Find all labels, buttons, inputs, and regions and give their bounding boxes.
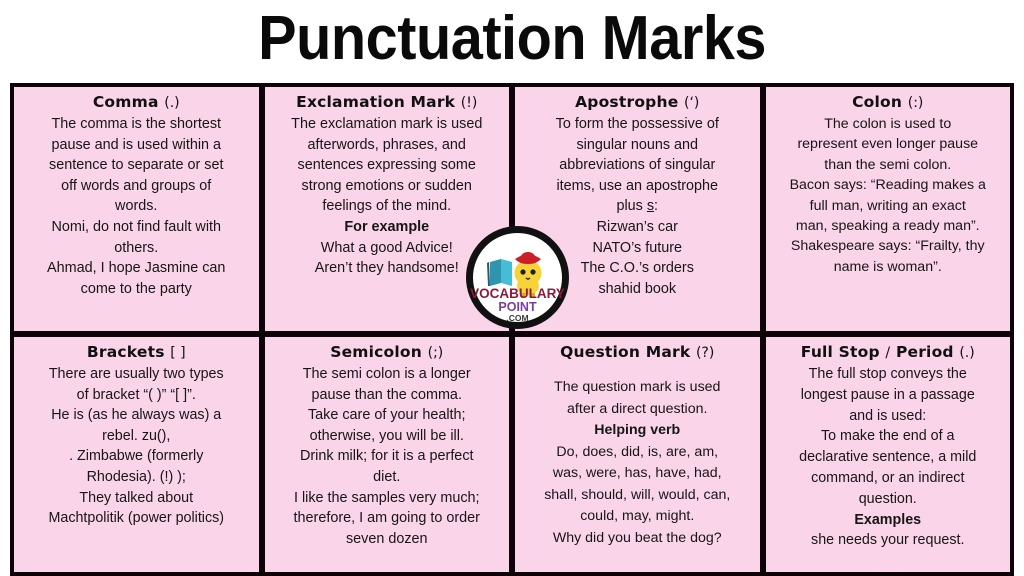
body-line: Rhodesia). (!) ); [21, 467, 252, 488]
cell-mark: (?) [696, 345, 714, 361]
cell-mark: (‘) [684, 95, 699, 111]
body-line: He is (as he always was) a [21, 405, 252, 426]
body-line: declarative sentence, a mild [773, 447, 1004, 468]
body-line: shahid book [522, 279, 753, 300]
body-line: seven dozen [272, 529, 503, 550]
body-line: pause than the comma. [272, 385, 503, 406]
cell-body-exclamation-mark: The exclamation mark is used afterwords,… [272, 114, 503, 279]
cell-body-comma: The comma is the shortest pause and is u… [21, 114, 252, 299]
cell-title: Question Mark [560, 343, 690, 361]
cell-title: Colon [852, 93, 902, 111]
cell-heading-question-mark: Question Mark (?) [522, 343, 753, 363]
title-bar: Punctuation Marks [0, 0, 1024, 78]
underlined-s: s [647, 198, 654, 214]
cell-title-separator: / [885, 345, 890, 361]
body-line: full man, writing an exact [773, 196, 1004, 216]
body-line: There are usually two types [21, 364, 252, 385]
body-line: I like the samples very much; [272, 488, 503, 509]
body-line: sentences expressing some [272, 155, 503, 176]
body-line: man, speaking a ready man”. [773, 216, 1004, 236]
body-line: after a direct question. [522, 399, 753, 421]
punctuation-marks-poster: Punctuation Marks Comma (.) The comma is… [0, 0, 1024, 576]
body-line: off words and groups of [21, 176, 252, 197]
body-line: The question mark is used [522, 377, 753, 399]
body-line: What a good Advice! [272, 238, 503, 259]
body-line-emphasis: Examples [773, 510, 1004, 531]
body-line: of bracket “( )” “[ ]”. [21, 385, 252, 406]
cell-semicolon: Semicolon (;) The semi colon is a longer… [265, 337, 510, 572]
body-line: come to the party [21, 279, 252, 300]
cell-exclamation-mark: Exclamation Mark (!) The exclamation mar… [265, 87, 510, 331]
cell-mark: (.) [164, 95, 179, 111]
body-line: Bacon says: “Reading makes a [773, 175, 1004, 195]
body-line: Do, does, did, is, are, am, [522, 442, 753, 464]
body-line: sentence to separate or set [21, 155, 252, 176]
cell-heading-brackets: Brackets [ ] [21, 343, 252, 363]
body-line-emphasis: For example [272, 217, 503, 238]
body-line: diet. [272, 467, 503, 488]
cell-title-period: Period [896, 343, 954, 361]
body-line: question. [773, 489, 1004, 510]
body-line: Aren’t they handsome! [272, 258, 503, 279]
body-line: words. [21, 196, 252, 217]
cell-title-full-stop: Full Stop [801, 343, 880, 361]
cell-title: Comma [93, 93, 159, 111]
body-line: They talked about [21, 488, 252, 509]
body-line: To form the possessive of [522, 114, 753, 135]
body-line: longest pause in a passage [773, 385, 1004, 406]
cell-title: Brackets [87, 343, 165, 361]
body-line: items, use an apostrophe [522, 176, 753, 197]
body-line: feelings of the mind. [272, 196, 503, 217]
body-line: The comma is the shortest [21, 114, 252, 135]
cell-apostrophe: Apostrophe (‘) To form the possessive of… [515, 87, 760, 331]
cell-full-stop-period: Full Stop / Period (.) The full stop con… [766, 337, 1011, 572]
body-line: . Zimbabwe (formerly [21, 446, 252, 467]
cell-body-brackets: There are usually two types of bracket “… [21, 364, 252, 529]
cell-heading-colon: Colon (:) [773, 93, 1004, 113]
body-line: otherwise, you will be ill. [272, 426, 503, 447]
cell-body-apostrophe: To form the possessive of singular nouns… [522, 114, 753, 299]
body-line: Rizwan’s car [522, 217, 753, 238]
body-line: Nomi, do not find fault with [21, 217, 252, 238]
cell-body-question-mark: The question mark is used after a direct… [522, 364, 753, 549]
body-line: Take care of your health; [272, 405, 503, 426]
page-title: Punctuation Marks [258, 6, 766, 72]
body-line: Ahmad, I hope Jasmine can [21, 258, 252, 279]
body-line: Shakespeare says: “Frailty, thy [773, 236, 1004, 256]
cell-comma: Comma (.) The comma is the shortest paus… [14, 87, 259, 331]
cell-heading-exclamation-mark: Exclamation Mark (!) [272, 93, 503, 113]
punctuation-grid: Comma (.) The comma is the shortest paus… [10, 83, 1014, 576]
cell-title: Apostrophe [575, 93, 678, 111]
cell-body-colon: The colon is used to represent even long… [773, 114, 1004, 277]
body-line: pause and is used within a [21, 135, 252, 156]
body-spacer [522, 364, 753, 377]
body-line-emphasis: Helping verb [522, 420, 753, 442]
body-line: represent even longer pause [773, 134, 1004, 154]
body-line: shall, should, will, would, can, [522, 485, 753, 507]
body-line: therefore, I am going to order [272, 508, 503, 529]
body-line: she needs your request. [773, 530, 1004, 551]
body-line: The colon is used to [773, 114, 1004, 134]
cell-heading-comma: Comma (.) [21, 93, 252, 113]
cell-heading-apostrophe: Apostrophe (‘) [522, 93, 753, 113]
body-line: afterwords, phrases, and [272, 135, 503, 156]
body-line: command, or an indirect [773, 468, 1004, 489]
cell-body-full-stop-period: The full stop conveys the longest pause … [773, 364, 1004, 551]
body-line: To make the end of a [773, 426, 1004, 447]
body-line: than the semi colon. [773, 155, 1004, 175]
body-line: The exclamation mark is used [272, 114, 503, 135]
body-line: singular nouns and [522, 135, 753, 156]
body-line: could, may, might. [522, 506, 753, 528]
body-line-plus-s: plus s: [522, 196, 753, 217]
cell-mark: (:) [908, 95, 924, 111]
body-line: and is used: [773, 406, 1004, 427]
body-line: others. [21, 238, 252, 259]
cell-brackets: Brackets [ ] There are usually two types… [14, 337, 259, 572]
cell-heading-semicolon: Semicolon (;) [272, 343, 503, 363]
body-line: strong emotions or sudden [272, 176, 503, 197]
body-line: Drink milk; for it is a perfect [272, 446, 503, 467]
body-line: Machtpolitik (power politics) [21, 508, 252, 529]
body-line: abbreviations of singular [522, 155, 753, 176]
cell-mark: (.) [959, 345, 974, 361]
cell-body-semicolon: The semi colon is a longer pause than th… [272, 364, 503, 549]
body-line: was, were, has, have, had, [522, 463, 753, 485]
body-line: Why did you beat the dog? [522, 528, 753, 550]
cell-title: Exclamation Mark [296, 93, 455, 111]
cell-mark: [ ] [170, 345, 185, 361]
body-line: The C.O.’s orders [522, 258, 753, 279]
cell-heading-full-stop-period: Full Stop / Period (.) [773, 343, 1004, 363]
body-line: The full stop conveys the [773, 364, 1004, 385]
cell-colon: Colon (:) The colon is used to represent… [766, 87, 1011, 331]
body-line: NATO’s future [522, 238, 753, 259]
body-line: The semi colon is a longer [272, 364, 503, 385]
cell-mark: (;) [428, 345, 444, 361]
cell-title: Semicolon [330, 343, 422, 361]
body-line: name is woman”. [773, 257, 1004, 277]
cell-mark: (!) [461, 95, 478, 111]
body-line: rebel. zu(), [21, 426, 252, 447]
cell-question-mark: Question Mark (?) The question mark is u… [515, 337, 760, 572]
